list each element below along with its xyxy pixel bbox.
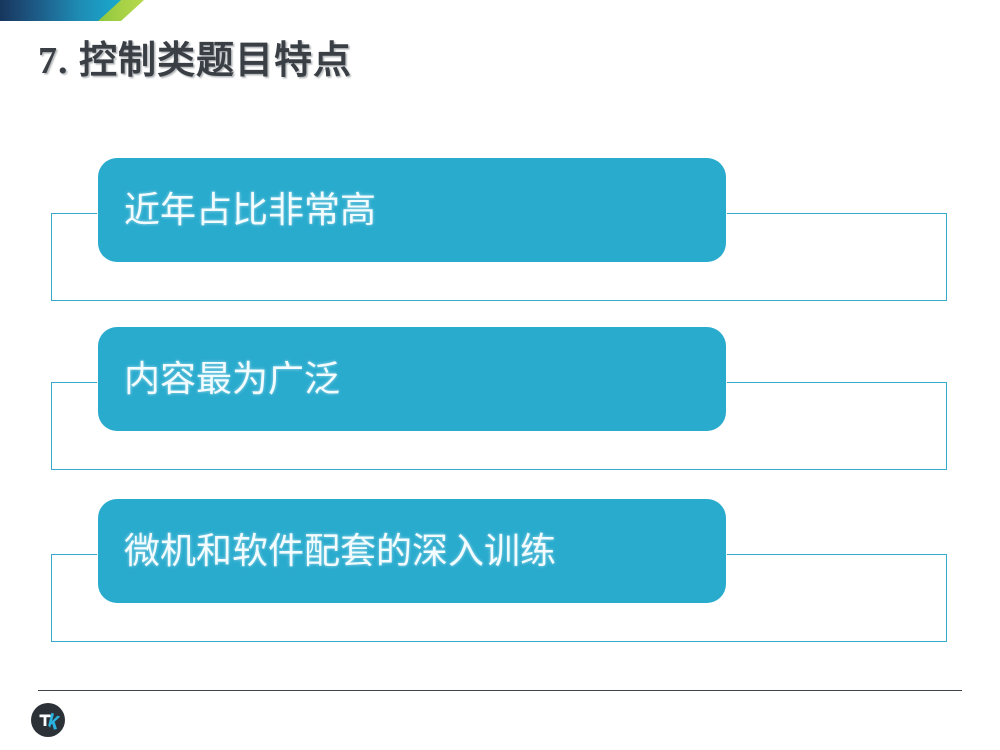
slide-canvas: 7. 控制类题目特点 近年占比非常高 内容最为广泛 微机和软件配套的深入训练 <box>0 0 1000 750</box>
blue-callout-label: 微机和软件配套的深入训练 <box>98 529 556 573</box>
logo-tk-icon <box>31 703 65 737</box>
diagram-group: 近年占比非常高 内容最为广泛 微机和软件配套的深入训练 <box>0 0 1000 750</box>
blue-callout-box[interactable]: 内容最为广泛 <box>98 327 726 431</box>
footer-divider <box>38 690 962 691</box>
brand-logo <box>31 703 65 737</box>
blue-callout-box[interactable]: 微机和软件配套的深入训练 <box>98 499 726 603</box>
blue-callout-box[interactable]: 近年占比非常高 <box>98 158 726 262</box>
blue-callout-label: 近年占比非常高 <box>98 188 376 232</box>
blue-callout-label: 内容最为广泛 <box>98 357 340 401</box>
